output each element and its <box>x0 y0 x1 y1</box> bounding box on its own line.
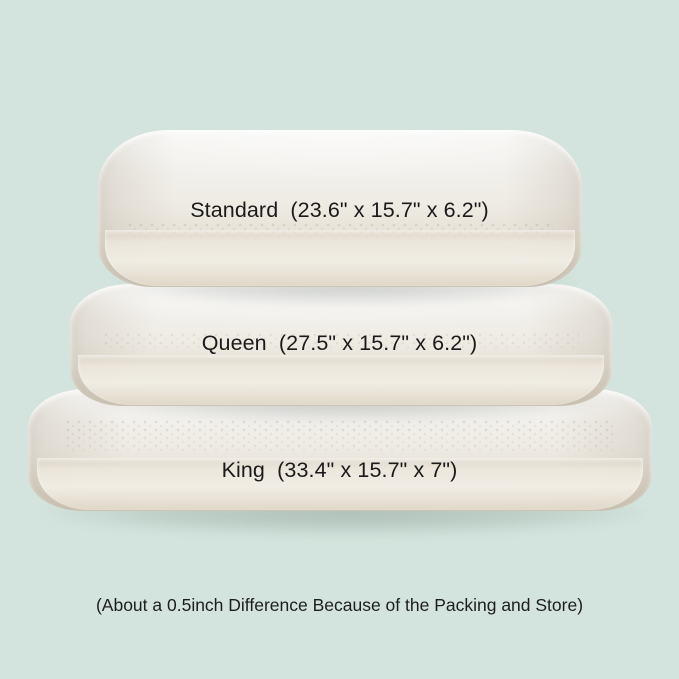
king-pillow-perforation-texture-2 <box>65 435 614 451</box>
standard-pillow-label: Standard (23.6" x 15.7" x 6.2") <box>0 198 679 223</box>
standard-pillow-label-name: Standard <box>190 198 278 222</box>
product-size-comparison-image: Standard (23.6" x 15.7" x 6.2") Queen (2… <box>0 0 679 679</box>
king-pillow-label-name: King <box>222 458 265 482</box>
king-pillow-label-dimensions: (33.4" x 15.7" x 7") <box>277 458 457 482</box>
size-disclaimer-footnote: (About a 0.5inch Difference Because of t… <box>0 595 679 616</box>
standard-pillow-label-dimensions: (23.6" x 15.7" x 6.2") <box>290 198 488 222</box>
queen-pillow-label: Queen (27.5" x 15.7" x 6.2") <box>0 331 679 356</box>
standard-pillow-front-lip <box>105 230 575 286</box>
queen-pillow-label-name: Queen <box>202 331 267 355</box>
king-pillow-label: King (33.4" x 15.7" x 7") <box>0 458 679 483</box>
queen-pillow-label-dimensions: (27.5" x 15.7" x 6.2") <box>279 331 477 355</box>
king-pillow <box>28 389 652 511</box>
queen-pillow-front-lip <box>78 355 604 405</box>
king-pillow-perforation-texture <box>65 419 614 435</box>
